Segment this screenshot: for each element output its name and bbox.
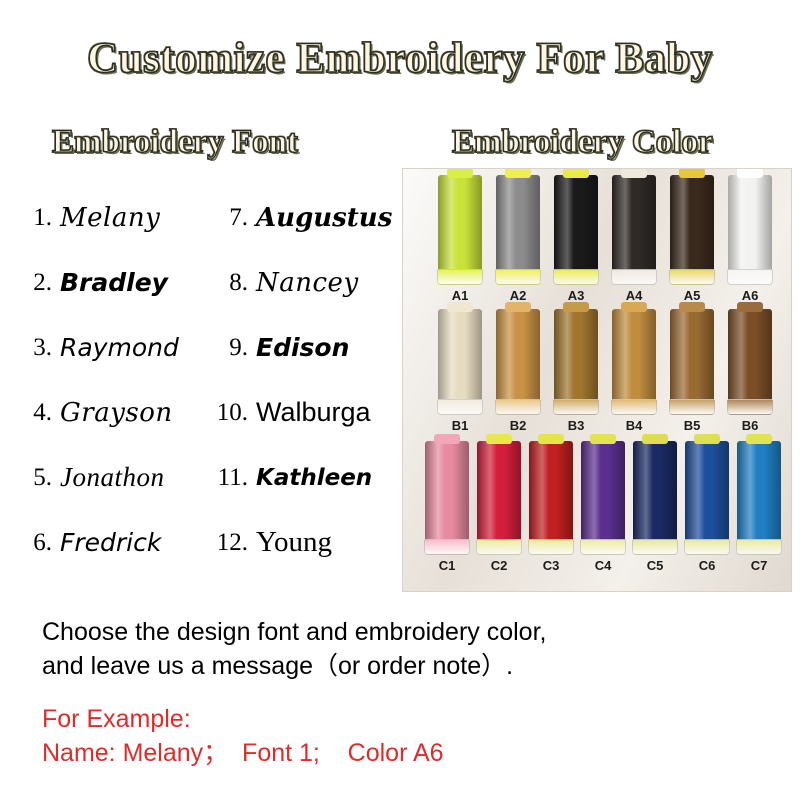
color-code-label: C2 [475, 558, 523, 573]
thread-spool-b6[interactable]: B6 [726, 309, 774, 433]
spool-top-cap [642, 434, 668, 444]
color-code-label: C4 [579, 558, 627, 573]
spool-top-cap [486, 434, 512, 444]
thread-spool-c4[interactable]: C4 [579, 441, 627, 573]
spool-top-cap [563, 302, 589, 312]
font-list: 1.Melany2.Bradley3.Raymond4.Grayson5.Jon… [8, 185, 400, 575]
color-code-label: C1 [423, 558, 471, 573]
page-title: Customize Embroidery For Baby [0, 34, 800, 83]
font-option-label: Augustus [256, 203, 392, 233]
font-option-label: Fredrick [60, 528, 161, 557]
color-code-label: C7 [735, 558, 783, 573]
spool-top-cap [447, 302, 473, 312]
color-code-label: A6 [726, 288, 774, 303]
spool-body [477, 441, 521, 541]
color-row-a: A1A2A3A4A5A6 [403, 175, 792, 313]
example-label: For Example: [42, 703, 191, 735]
font-option-number: 3. [8, 334, 60, 362]
spool-top-cap [694, 434, 720, 444]
color-row-b: B1B2B3B4B5B6 [403, 309, 792, 447]
spool-base [727, 269, 773, 285]
spool-body [554, 309, 598, 401]
spool-top-cap [621, 302, 647, 312]
color-code-label: B3 [552, 418, 600, 433]
spool-base [528, 539, 574, 555]
spool-base [437, 399, 483, 415]
spool-base [553, 269, 599, 285]
font-column-right: 7.Augustus8.Nancey9.Edison10.Walburga11.… [204, 185, 400, 575]
spool-base [727, 399, 773, 415]
spool-base [437, 269, 483, 285]
thread-spool-b4[interactable]: B4 [610, 309, 658, 433]
spool-body [554, 175, 598, 271]
font-option-melany[interactable]: 1.Melany [8, 185, 204, 250]
spool-body [529, 441, 573, 541]
thread-spool-a5[interactable]: A5 [668, 175, 716, 303]
spool-base [611, 399, 657, 415]
section-heading-embroidery-font: Embroidery Font [52, 124, 298, 161]
color-code-label: B6 [726, 418, 774, 433]
thread-spool-b3[interactable]: B3 [552, 309, 600, 433]
spool-body [496, 175, 540, 271]
spool-base [580, 539, 626, 555]
color-code-label: A4 [610, 288, 658, 303]
thread-spool-b1[interactable]: B1 [436, 309, 484, 433]
spool-top-cap [746, 434, 772, 444]
font-option-augustus[interactable]: 7.Augustus [204, 185, 400, 250]
color-code-label: B5 [668, 418, 716, 433]
spool-base [495, 269, 541, 285]
font-option-label: Grayson [60, 398, 173, 428]
font-option-nancey[interactable]: 8.Nancey [204, 250, 400, 315]
spool-body [670, 309, 714, 401]
font-option-number: 4. [8, 399, 60, 427]
font-option-young[interactable]: 12.Young [204, 510, 400, 575]
spool-base [553, 399, 599, 415]
font-option-label: Edison [256, 333, 349, 362]
spool-body [425, 441, 469, 541]
spool-base [611, 269, 657, 285]
font-option-grayson[interactable]: 4.Grayson [8, 380, 204, 445]
spool-top-cap [538, 434, 564, 444]
font-column-left: 1.Melany2.Bradley3.Raymond4.Grayson5.Jon… [8, 185, 204, 575]
font-option-label: Nancey [256, 268, 359, 298]
spool-base [669, 269, 715, 285]
font-option-label: Jonathon [60, 462, 165, 493]
font-option-kathleen[interactable]: 11.Kathleen [204, 445, 400, 510]
thread-spool-a2[interactable]: A2 [494, 175, 542, 303]
font-option-label: Young [256, 526, 332, 559]
spool-base [684, 539, 730, 555]
spool-top-cap [621, 168, 647, 178]
spool-body [581, 441, 625, 541]
font-option-label: Walburga [256, 397, 371, 428]
spool-base [424, 539, 470, 555]
thread-spool-b2[interactable]: B2 [494, 309, 542, 433]
spool-body [633, 441, 677, 541]
spool-top-cap [505, 302, 531, 312]
spool-body [737, 441, 781, 541]
spool-body [438, 175, 482, 271]
color-code-label: A5 [668, 288, 716, 303]
spool-body [496, 309, 540, 401]
spool-body [685, 441, 729, 541]
spool-base [669, 399, 715, 415]
spool-body [612, 175, 656, 271]
font-option-bradley[interactable]: 2.Bradley [8, 250, 204, 315]
spool-base [632, 539, 678, 555]
instruction-line-2: and leave us a message（or order note）. [42, 650, 772, 682]
spool-body [438, 309, 482, 401]
spool-top-cap [434, 434, 460, 444]
thread-spool-c1[interactable]: C1 [423, 441, 471, 573]
font-option-number: 10. [204, 399, 256, 427]
spool-top-cap [505, 168, 531, 178]
font-option-fredrick[interactable]: 6.Fredrick [8, 510, 204, 575]
embroidery-customization-page: Customize Embroidery For Baby Embroidery… [0, 0, 800, 800]
spool-body [612, 309, 656, 401]
font-option-number: 1. [8, 204, 60, 232]
font-option-number: 5. [8, 464, 60, 492]
font-option-label: Melany [60, 203, 160, 233]
font-option-jonathon[interactable]: 5.Jonathon [8, 445, 204, 510]
section-heading-embroidery-color: Embroidery Color [452, 124, 713, 161]
color-code-label: B2 [494, 418, 542, 433]
font-option-label: Bradley [60, 268, 168, 297]
thread-spool-c7[interactable]: C7 [735, 441, 783, 573]
font-option-number: 11. [204, 464, 256, 492]
font-option-number: 6. [8, 529, 60, 557]
font-option-label: Raymond [60, 333, 179, 362]
spool-top-cap [679, 168, 705, 178]
thread-spool-b5[interactable]: B5 [668, 309, 716, 433]
example-value: Name: Melany； Font 1; Color A6 [42, 737, 444, 769]
color-code-label: B1 [436, 418, 484, 433]
spool-base [736, 539, 782, 555]
spool-body [670, 175, 714, 271]
font-option-number: 8. [204, 269, 256, 297]
color-code-label: A2 [494, 288, 542, 303]
spool-top-cap [737, 168, 763, 178]
font-option-number: 9. [204, 334, 256, 362]
spool-top-cap [447, 168, 473, 178]
embroidery-color-chart-image: A1A2A3A4A5A6 B1B2B3B4B5B6 C1C2C3C4C5C6C7 [402, 168, 792, 592]
color-code-label: A3 [552, 288, 600, 303]
spool-body [728, 175, 772, 271]
spool-base [476, 539, 522, 555]
thread-spool-a4[interactable]: A4 [610, 175, 658, 303]
thread-spool-c3[interactable]: C3 [527, 441, 575, 573]
color-code-label: C5 [631, 558, 679, 573]
thread-spool-a6[interactable]: A6 [726, 175, 774, 303]
font-option-walburga[interactable]: 10.Walburga [204, 380, 400, 445]
color-code-label: C6 [683, 558, 731, 573]
font-option-number: 12. [204, 529, 256, 557]
instruction-line-1: Choose the design font and embroidery co… [42, 616, 772, 648]
color-code-label: B4 [610, 418, 658, 433]
spool-body [728, 309, 772, 401]
font-option-number: 7. [204, 204, 256, 232]
color-code-label: A1 [436, 288, 484, 303]
thread-spool-a3[interactable]: A3 [552, 175, 600, 303]
spool-top-cap [679, 302, 705, 312]
thread-spool-c5[interactable]: C5 [631, 441, 679, 573]
spool-base [495, 399, 541, 415]
spool-top-cap [563, 168, 589, 178]
spool-top-cap [590, 434, 616, 444]
thread-spool-c6[interactable]: C6 [683, 441, 731, 573]
color-code-label: C3 [527, 558, 575, 573]
font-option-number: 2. [8, 269, 60, 297]
font-option-raymond[interactable]: 3.Raymond [8, 315, 204, 380]
font-option-edison[interactable]: 9.Edison [204, 315, 400, 380]
color-row-c: C1C2C3C4C5C6C7 [403, 441, 792, 589]
spool-top-cap [737, 302, 763, 312]
thread-spool-c2[interactable]: C2 [475, 441, 523, 573]
font-option-label: Kathleen [256, 465, 372, 491]
thread-spool-a1[interactable]: A1 [436, 175, 484, 303]
